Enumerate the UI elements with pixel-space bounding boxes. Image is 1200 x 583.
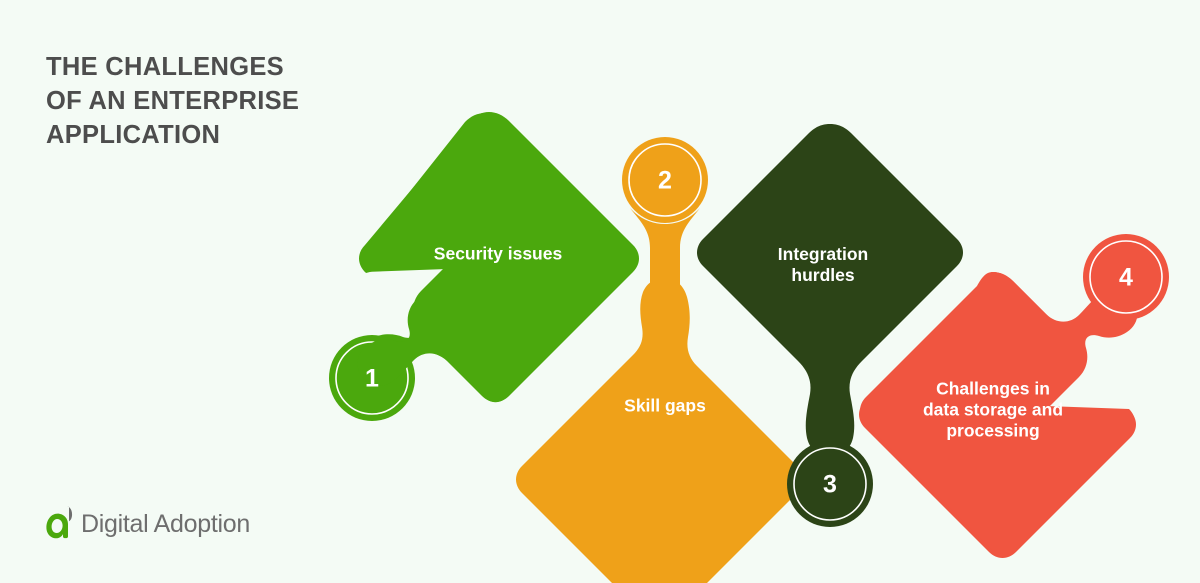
infographic-canvas: THE CHALLENGES OF AN ENTERPRISE APPLICAT… bbox=[0, 0, 1200, 583]
brand-name: Digital Adoption bbox=[81, 512, 250, 537]
node-3-badge-circle bbox=[787, 441, 873, 527]
digital-adoption-leaf-a-logo-icon bbox=[44, 505, 78, 541]
brand-logo[interactable]: Digital Adoption bbox=[44, 505, 250, 541]
node-2-badge-circle bbox=[622, 137, 708, 223]
challenges-diagram bbox=[0, 0, 1200, 583]
node-1-diamond-body bbox=[357, 112, 639, 402]
node-4-badge-circle bbox=[1083, 234, 1169, 320]
